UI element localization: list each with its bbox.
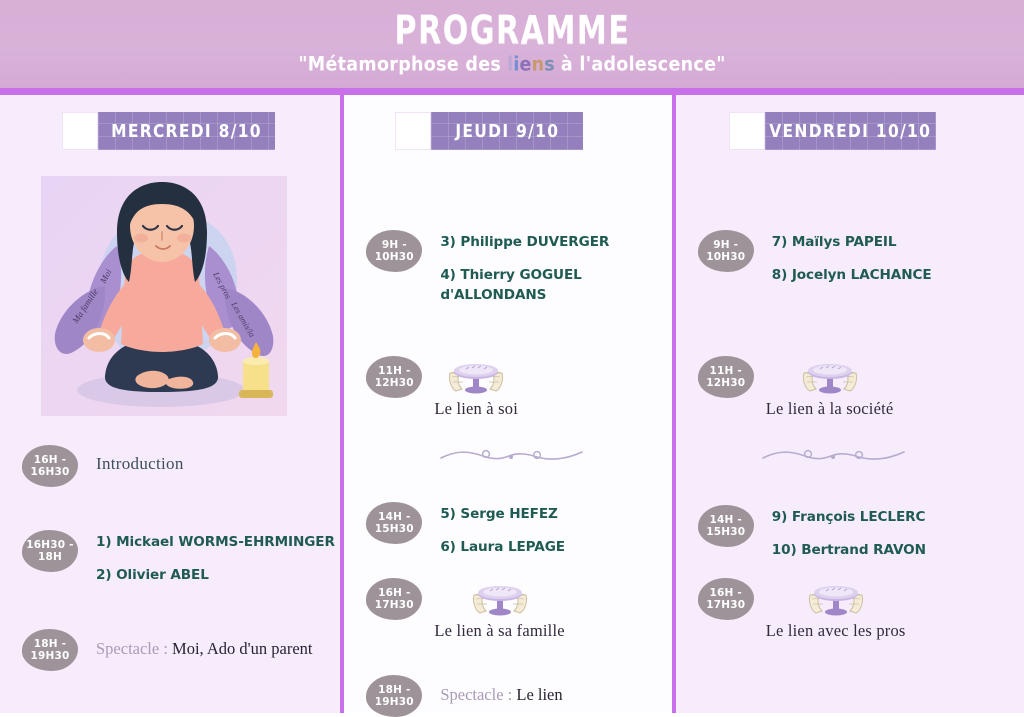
time-start: 16H - [378,586,410,599]
speaker-entry: 3) Philippe DUVERGER [440,233,609,252]
row-content: 5) Serge HEFEZ 6) Laura LEPAGE [422,502,565,558]
time-end: 19H30 [375,696,414,709]
meditating-woman-icon: Moi Ma famille Les pros Les amis/la [41,176,287,416]
speaker-entry: 4) Thierry GOGUEL d'ALLONDANS [440,266,600,305]
table-session-label: Le lien avec les pros [766,621,906,641]
time-start: 18H - [34,637,66,650]
time-badge: 14H - 15H30 [698,505,754,547]
time-end: 17H30 [706,599,745,612]
time-end: 12H30 [706,377,745,390]
round-table-icon [468,581,532,619]
day-label: MERCREDI 8/10 [111,121,262,142]
speaker-entry: 1) Mickael WORMS-EHRMINGER [96,533,335,552]
wavy-divider-icon [761,445,906,467]
day-banner: MERCREDI 8/10 [98,112,275,150]
liens-letter: e [520,53,532,76]
row-content: 7) Maïlys PAPEIL 8) Jocelyn LACHANCE [754,230,932,286]
time-badge: 16H - 17H30 [366,578,422,620]
time-end: 17H30 [375,599,414,612]
schedule-row: 11H - 12H30 [698,356,894,419]
spectacle-entry: Spectacle : Le lien [440,678,562,705]
schedule-row: 16H30 - 18H 1) Mickael WORMS-EHRMINGER 2… [22,530,335,586]
time-start: 11H - [378,364,410,377]
time-start: 16H - [710,586,742,599]
schedule-row: 9H - 10H30 3) Philippe DUVERGER 4) Thier… [366,230,609,305]
row-content: Le lien à soi [422,356,518,419]
day-header-friday: VENDREDI 10/10 [729,112,936,150]
time-badge: 14H - 15H30 [366,502,422,544]
day-header-wednesday: MERCREDI 8/10 [62,112,275,150]
subtitle-suffix: à l'adolescence" [561,53,726,76]
round-table-icon [798,359,862,397]
day-header-thursday: JEUDI 9/10 [395,112,583,150]
schedule-row: 18H - 19H30 Spectacle : Moi, Ado d'un pa… [22,629,313,671]
time-badge: 18H - 19H30 [22,629,78,671]
row-content: 9) François LECLERC 10) Bertrand RAVON [754,505,926,561]
spectacle-title: Le lien [516,685,562,704]
speaker-entry: 7) Maïlys PAPEIL [772,233,932,252]
day-square-icon [62,112,98,150]
speaker-entry: 9) François LECLERC [772,508,926,527]
programme-poster: PROGRAMME "Métamorphose des liens à l'ad… [0,0,1024,713]
day-label: VENDREDI 10/10 [769,121,931,142]
row-content: Le lien à la société [754,356,894,419]
round-table-icon [804,581,868,619]
day-banner: VENDREDI 10/10 [765,112,936,150]
time-end: 10H30 [375,251,414,264]
row-content: Le lien à sa famille [422,578,564,641]
speaker-entry: 10) Bertrand RAVON [772,541,926,560]
time-start: 18H - [378,683,410,696]
schedule-row: 16H - 17H30 [366,578,564,641]
time-end: 18H [38,551,62,564]
spectacle-entry: Spectacle : Moi, Ado d'un parent [96,632,313,659]
time-badge: 16H - 16H30 [22,445,78,487]
day-banner: JEUDI 9/10 [431,112,583,150]
time-start: 16H - [34,453,66,466]
header-accent-rule [0,88,1024,95]
schedule-row: 16H - 16H30 Introduction [22,445,184,487]
time-end: 19H30 [30,650,69,663]
subtitle-prefix: "Métamorphose des [298,53,501,76]
schedule-row: 14H - 15H30 9) François LECLERC 10) Bert… [698,505,926,561]
time-end: 15H30 [706,526,745,539]
row-content: Spectacle : Le lien [422,675,562,705]
poster-header: PROGRAMME "Métamorphose des liens à l'ad… [0,0,1024,88]
time-badge: 11H - 12H30 [698,356,754,398]
time-start: 14H - [378,510,410,523]
row-content: Le lien avec les pros [754,578,906,641]
column-thursday: JEUDI 9/10 9H - 10H30 3) Philippe DUVERG… [344,95,671,713]
time-start: 14H - [710,513,742,526]
speaker-entry: 6) Laura LEPAGE [440,538,565,557]
day-columns: MERCREDI 8/10 [0,95,1024,713]
schedule-row: 14H - 15H30 5) Serge HEFEZ 6) Laura LEPA… [366,502,565,558]
page-title: PROGRAMME [394,10,630,49]
speaker-entry: 2) Olivier ABEL [96,566,335,585]
time-badge: 11H - 12H30 [366,356,422,398]
speaker-entry: 8) Jocelyn LACHANCE [772,266,932,285]
time-start: 11H - [710,364,742,377]
schedule-row: 11H - 12H30 [366,356,518,419]
time-start: 9H - [713,238,738,251]
page-subtitle: "Métamorphose des liens à l'adolescence" [298,53,725,76]
column-friday: VENDREDI 10/10 9H - 10H30 7) Maïlys PAPE… [676,95,1024,713]
time-badge: 16H - 17H30 [698,578,754,620]
schedule-row: 9H - 10H30 7) Maïlys PAPEIL 8) Jocelyn L… [698,230,932,286]
row-content: Spectacle : Moi, Ado d'un parent [78,629,313,659]
meditation-illustration: Moi Ma famille Les pros Les amis/la [41,176,287,416]
column-wednesday: MERCREDI 8/10 [0,95,340,713]
liens-letter: s [544,53,555,76]
schedule-row: 16H - 17H30 [698,578,906,641]
time-start: 9H - [382,238,407,251]
time-end: 12H30 [375,377,414,390]
subtitle-word-liens: liens [507,53,555,76]
row-content: 3) Philippe DUVERGER 4) Thierry GOGUEL d… [422,230,609,305]
row-content: Introduction [78,445,184,474]
spectacle-label: Spectacle : [440,685,512,704]
time-badge: 9H - 10H30 [698,230,754,272]
day-square-icon [395,112,431,150]
round-table-icon [444,359,508,397]
wavy-divider-icon [439,445,584,467]
speaker-entry: 5) Serge HEFEZ [440,505,565,524]
time-badge: 18H - 19H30 [366,675,422,717]
table-session-label: Le lien à sa famille [434,621,564,641]
time-end: 10H30 [706,251,745,264]
time-end: 15H30 [375,523,414,536]
day-label: JEUDI 9/10 [455,121,559,142]
spectacle-label: Spectacle : [96,639,168,658]
time-badge: 9H - 10H30 [366,230,422,272]
time-badge: 16H30 - 18H [22,530,78,572]
spectacle-title: Moi, Ado d'un parent [172,639,312,658]
table-session-label: Le lien à soi [434,399,518,419]
day-square-icon [729,112,765,150]
time-start: 16H30 - [26,538,73,551]
session-title: Introduction [96,448,184,474]
liens-letter: n [532,53,545,76]
row-content: 1) Mickael WORMS-EHRMINGER 2) Olivier AB… [78,530,335,586]
schedule-row: 18H - 19H30 Spectacle : Le lien [366,675,562,717]
time-end: 16H30 [30,466,69,479]
table-session-label: Le lien à la société [766,399,894,419]
